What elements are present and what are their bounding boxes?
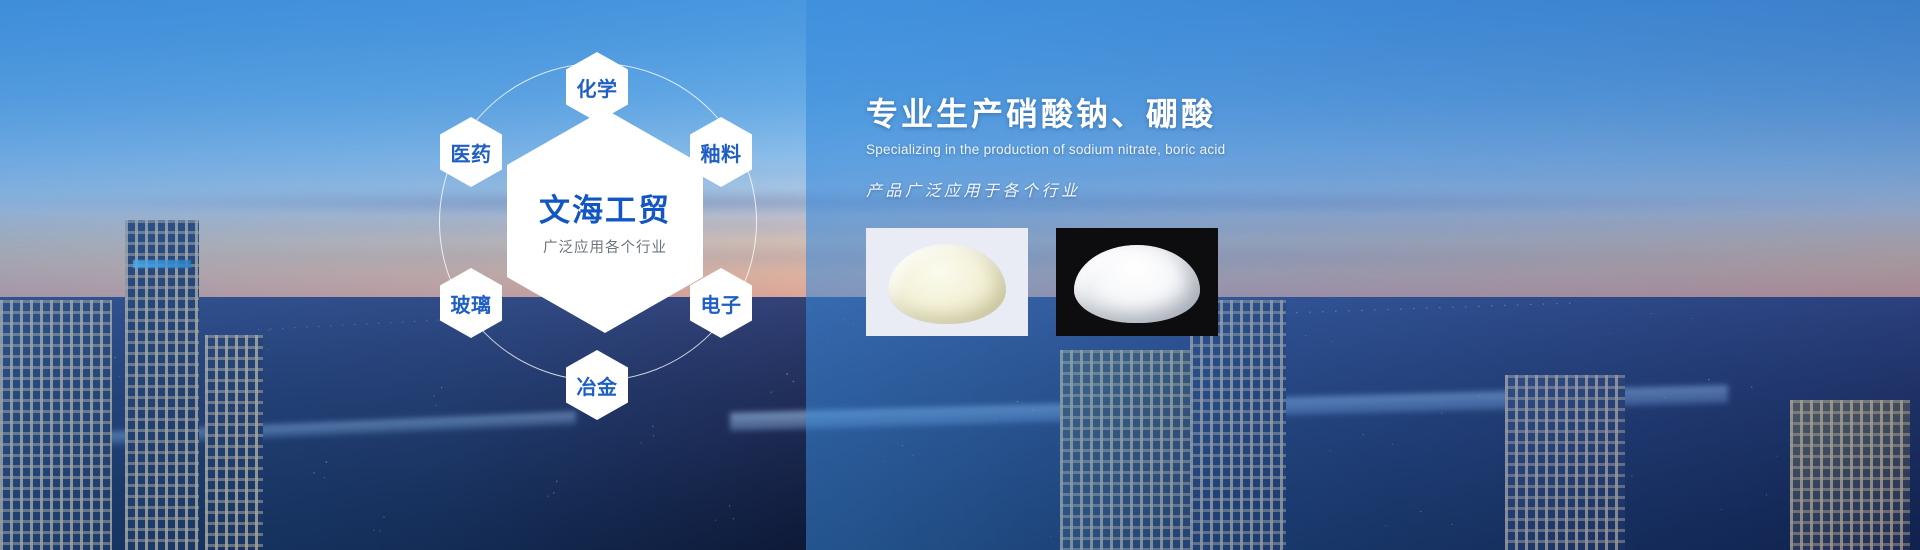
hex-node-label: 化学 bbox=[577, 73, 618, 102]
promo-banner: 化学 釉料 电子 冶金 玻璃 医药 文海工贸 广泛应用各个行业 专业生产硝酸钠、… bbox=[0, 0, 1920, 550]
hex-node-label: 电子 bbox=[701, 289, 742, 318]
powder-pile bbox=[1074, 245, 1200, 323]
hex-node-label: 玻璃 bbox=[451, 289, 492, 318]
powder-grain-texture bbox=[1074, 245, 1200, 323]
industry-hex-diagram: 化学 釉料 电子 冶金 玻璃 医药 文海工贸 广泛应用各个行业 bbox=[415, 25, 845, 445]
hex-node-label: 医药 bbox=[451, 138, 492, 167]
headline-caption: 产品广泛应用于各个行业 bbox=[866, 177, 1566, 201]
hex-node-label: 冶金 bbox=[577, 371, 618, 400]
product-photo-sodium-nitrate[interactable] bbox=[866, 228, 1028, 336]
headline-block: 专业生产硝酸钠、硼酸 Specializing in the productio… bbox=[866, 96, 1566, 201]
brand-tagline: 广泛应用各个行业 bbox=[543, 236, 667, 257]
headline-title: 专业生产硝酸钠、硼酸 bbox=[866, 96, 1566, 134]
powder-pile bbox=[888, 244, 1006, 324]
brand-name: 文海工贸 bbox=[539, 185, 671, 230]
headline-subtitle: Specializing in the production of sodium… bbox=[866, 142, 1566, 157]
product-photo-strip bbox=[866, 228, 1218, 336]
powder-grain-texture bbox=[888, 244, 1006, 324]
hex-node-label: 釉料 bbox=[701, 138, 742, 167]
product-photo-boric-acid[interactable] bbox=[1056, 228, 1218, 336]
